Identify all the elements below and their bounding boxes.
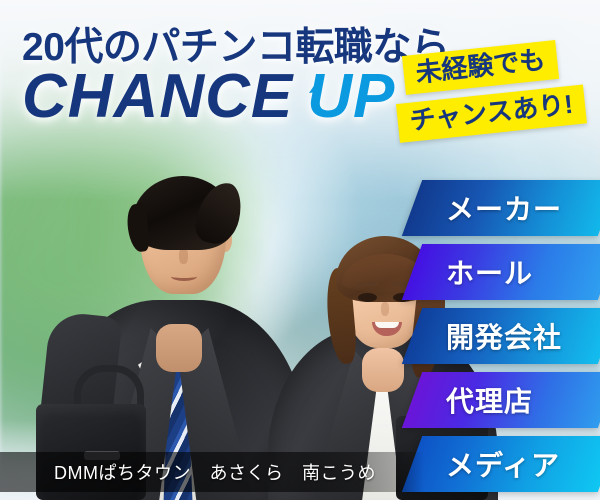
woman-eye-left: [358, 293, 377, 302]
category-bar-agency[interactable]: 代理店: [402, 372, 600, 428]
man-neck: [156, 324, 202, 372]
category-label-hall: ホール: [412, 244, 600, 300]
chance-up-logo: CHANCEUP: [22, 66, 395, 128]
category-label-developer: 開発会社: [412, 308, 600, 364]
category-bar-developer[interactable]: 開発会社: [402, 308, 600, 364]
category-label-maker: メーカー: [412, 180, 600, 236]
caption-credits: DMMぱちタウン あさくら 南こうめ: [0, 459, 376, 485]
woman-teeth: [375, 322, 399, 328]
man-mouth: [171, 272, 197, 281]
category-bar-maker[interactable]: メーカー: [402, 180, 600, 236]
man-nose: [179, 248, 188, 264]
category-label-agency: 代理店: [412, 372, 600, 428]
woman-neck: [362, 348, 404, 392]
logo-word-up: UP: [307, 62, 395, 131]
logo-word-chance: CHANCE: [22, 62, 293, 131]
category-label-media: メディア: [412, 436, 600, 492]
advertisement-banner[interactable]: 20代のパチンコ転職なら CHANCEUP 未経験でも チャンスあり! メーカー…: [0, 0, 600, 500]
category-bar-media[interactable]: メディア: [402, 436, 600, 492]
woman-nose: [381, 302, 389, 316]
category-bar-hall[interactable]: ホール: [402, 244, 600, 300]
caption-band: DMMぱちタウン あさくら 南こうめ: [0, 452, 424, 492]
